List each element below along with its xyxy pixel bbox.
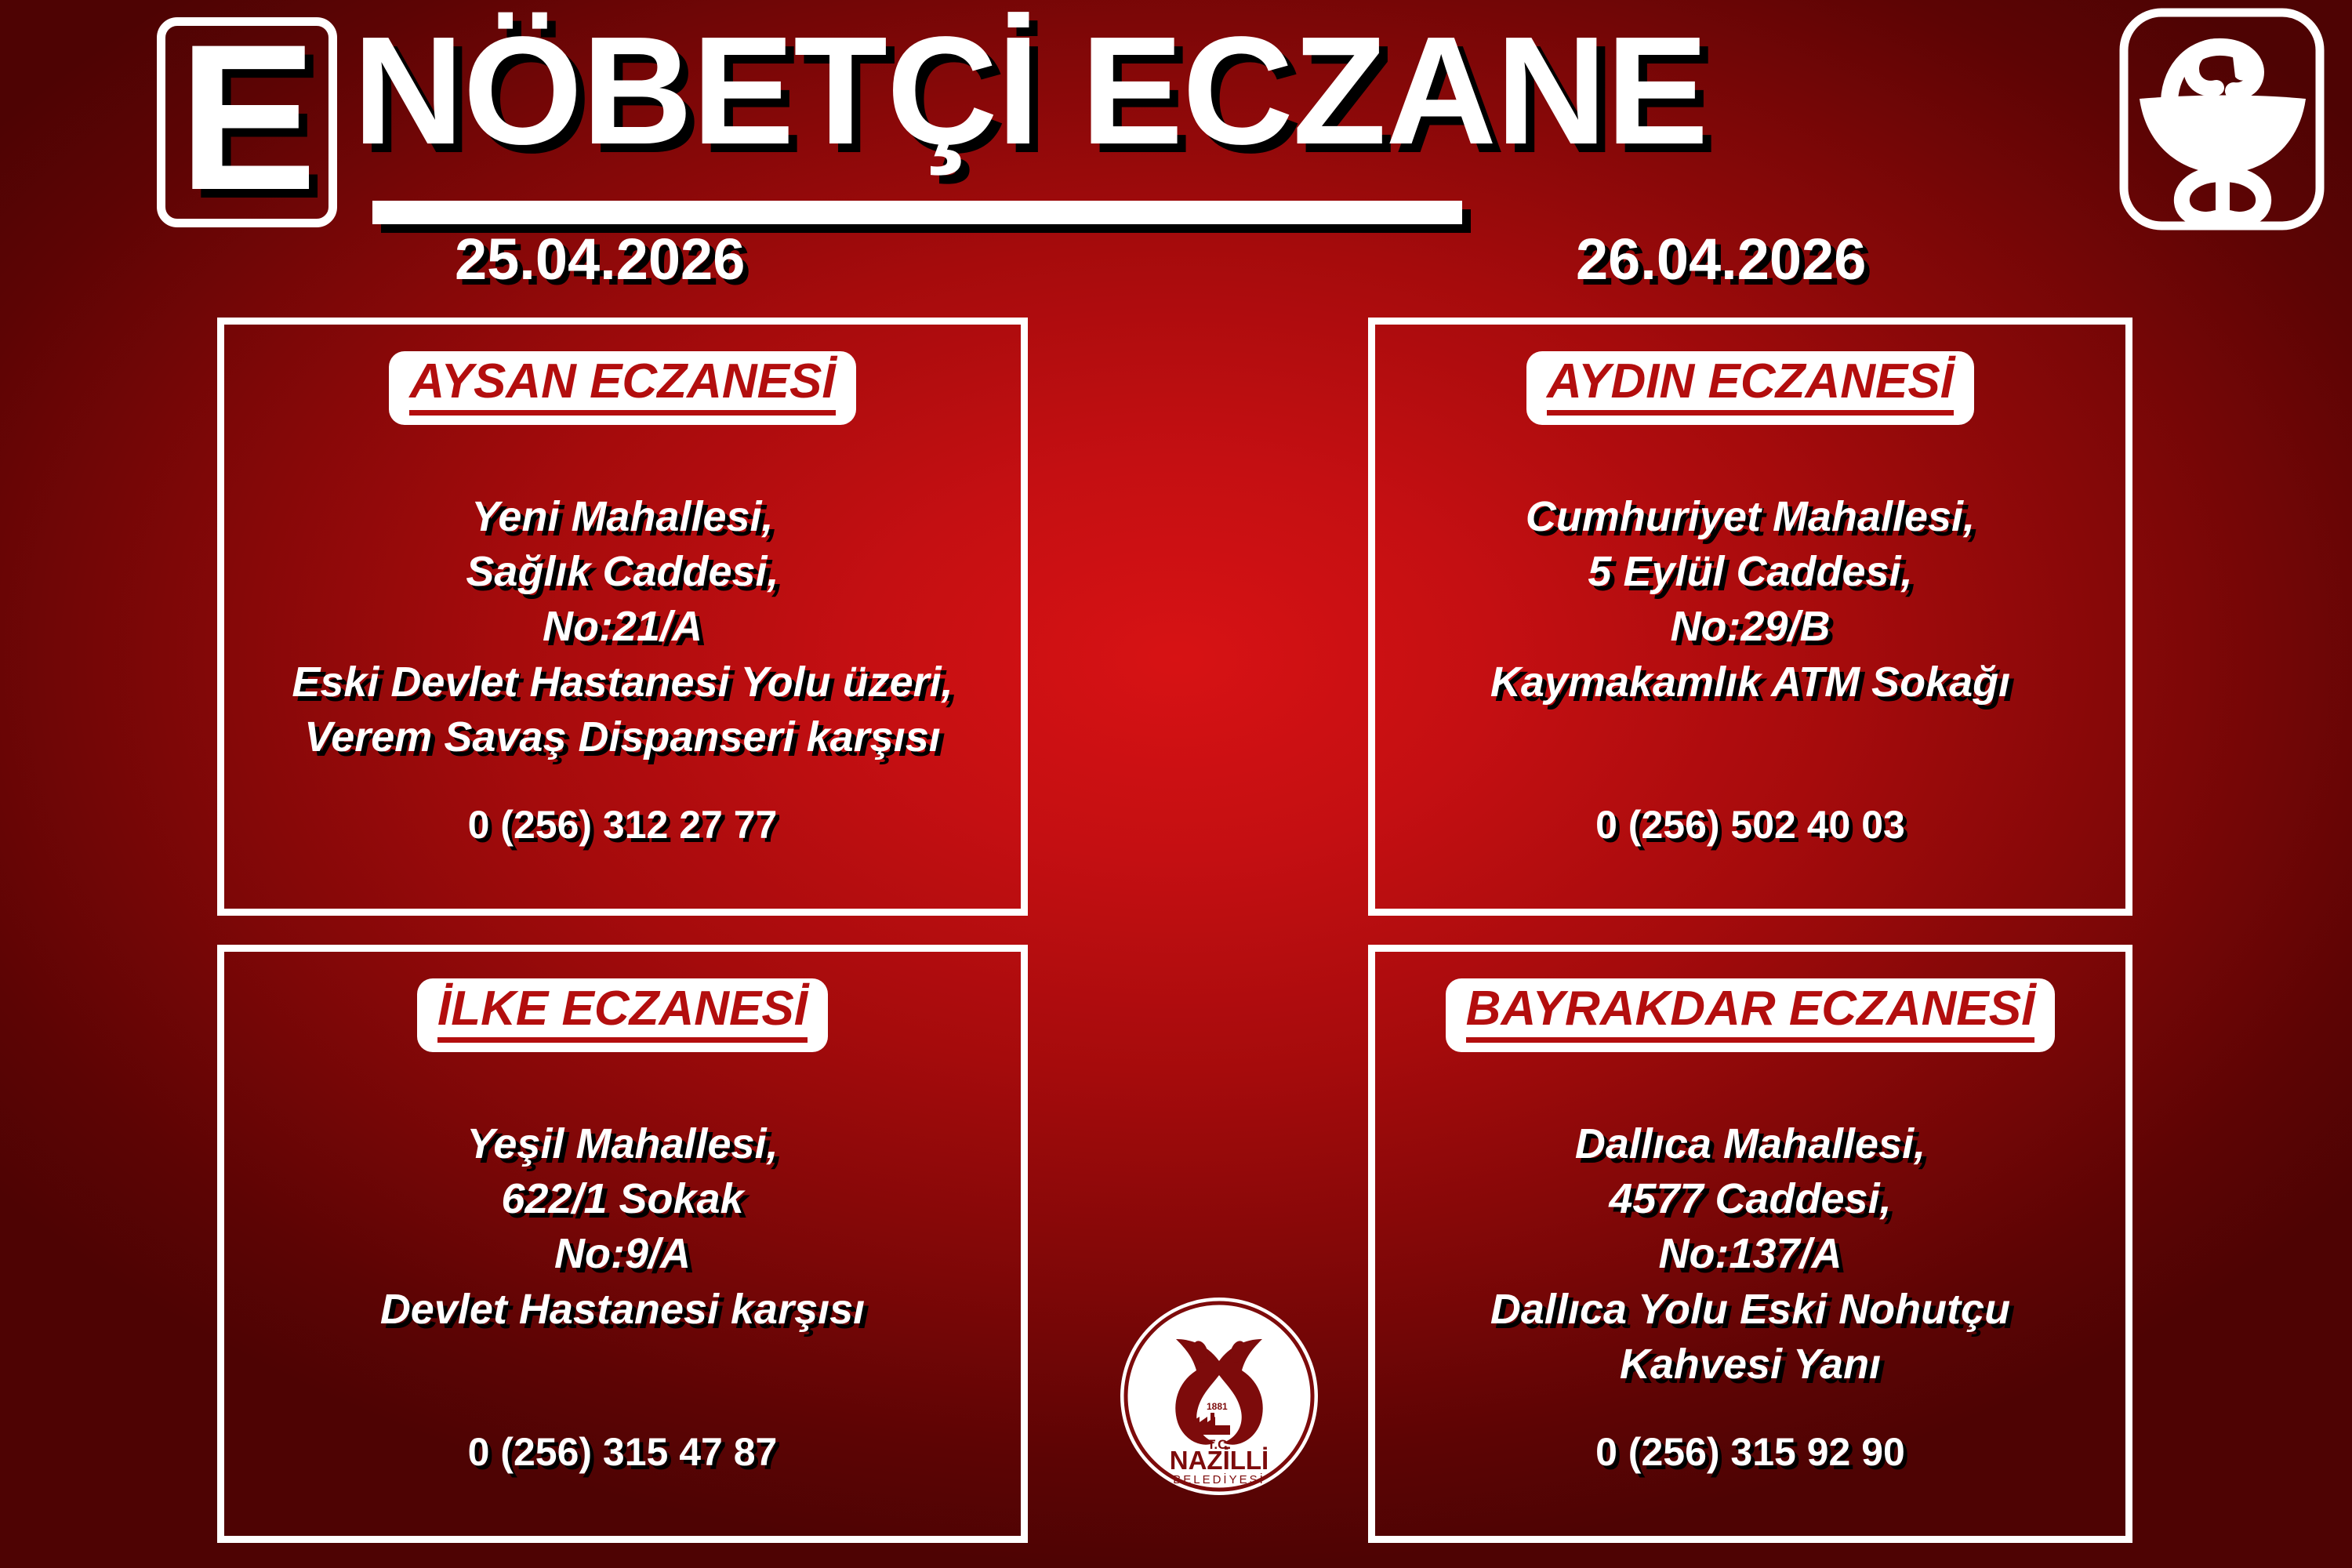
address-line: Dallıca Yolu Eski Nohutçu: [1490, 1282, 2010, 1337]
address-line: No:137/A: [1490, 1226, 2010, 1281]
address-line: 4577 Caddesi,: [1490, 1171, 2010, 1226]
pharmacy-card-aydin[interactable]: AYDIN ECZANESİ Cumhuriyet Mahallesi, 5 E…: [1368, 318, 2132, 916]
pharmacy-card-bayrakdar[interactable]: BAYRAKDAR ECZANESİ Dallıca Mahallesi, 45…: [1368, 945, 2132, 1543]
pharmacy-phone[interactable]: 0 (256) 315 47 87: [224, 1429, 1021, 1475]
address-line: No:9/A: [380, 1226, 865, 1281]
badge-letter: E: [179, 37, 316, 199]
pharmacy-card-aysan[interactable]: AYSAN ECZANESİ Yeni Mahallesi, Sağlık Ca…: [217, 318, 1028, 916]
address-line: 622/1 Sokak: [380, 1171, 865, 1226]
svg-text:NAZİLLİ: NAZİLLİ: [1170, 1446, 1269, 1475]
pharmacy-name-pill: BAYRAKDAR ECZANESİ: [1446, 978, 2056, 1052]
pharmacy-name: AYDIN ECZANESİ: [1547, 356, 1954, 416]
address-line: Dallıca Mahallesi,: [1490, 1116, 2010, 1171]
address-line: Verem Savaş Dispanseri karşısı: [292, 710, 953, 764]
pharmacy-name-pill: AYSAN ECZANESİ: [389, 351, 855, 425]
pharmacy-name-pill: AYDIN ECZANESİ: [1526, 351, 1974, 425]
pharmacy-name: AYSAN ECZANESİ: [409, 356, 835, 416]
poster-root: E NÖBETÇİ ECZANE 25.04.2: [0, 0, 2352, 1568]
address-line: No:29/B: [1490, 599, 2010, 654]
address-line: Sağlık Caddesi,: [292, 544, 953, 599]
nazilli-belediyesi-logo: 1881 T.C. NAZİLLİ BELEDİYESİ: [1118, 1295, 1320, 1497]
address-line: Yeşil Mahallesi,: [380, 1116, 865, 1171]
pharmacy-name-pill: İLKE ECZANESİ: [417, 978, 828, 1052]
address-line: Yeni Mahallesi,: [292, 489, 953, 544]
pharmacy-phone[interactable]: 0 (256) 315 92 90: [1375, 1429, 2125, 1475]
page-title: NÖBETÇİ ECZANE: [353, 13, 1708, 169]
address-line: Kahvesi Yanı: [1490, 1337, 2010, 1392]
address-line: Kaymakamlık ATM Sokağı: [1490, 655, 2010, 710]
pharmacy-phone[interactable]: 0 (256) 312 27 77: [224, 802, 1021, 848]
date-left: 25.04.2026: [455, 226, 745, 292]
pharmacy-card-ilke[interactable]: İLKE ECZANESİ Yeşil Mahallesi, 622/1 Sok…: [217, 945, 1028, 1543]
title-block: NÖBETÇİ ECZANE: [353, 13, 1708, 169]
badge-letter-box: E: [157, 17, 337, 227]
address-line: Eski Devlet Hastanesi Yolu üzeri,: [292, 655, 953, 710]
pharmacy-address: Cumhuriyet Mahallesi, 5 Eylül Caddesi, N…: [1476, 489, 2024, 710]
pharmacy-name: BAYRAKDAR ECZANESİ: [1466, 983, 2035, 1043]
title-underline-bar: [372, 201, 1462, 224]
pharmacy-address: Dallıca Mahallesi, 4577 Caddesi, No:137/…: [1476, 1116, 2024, 1392]
pharmacy-address: Yeni Mahallesi, Sağlık Caddesi, No:21/A …: [278, 489, 967, 764]
date-right: 26.04.2026: [1576, 226, 1866, 292]
address-line: Cumhuriyet Mahallesi,: [1490, 489, 2010, 544]
address-line: 5 Eylül Caddesi,: [1490, 544, 2010, 599]
svg-text:1881: 1881: [1207, 1401, 1228, 1412]
pharmacy-address: Yeşil Mahallesi, 622/1 Sokak No:9/A Devl…: [366, 1116, 879, 1337]
pharmacy-phone[interactable]: 0 (256) 502 40 03: [1375, 802, 2125, 848]
bowl-of-hygieia-icon: [2113, 6, 2332, 234]
address-line: No:21/A: [292, 599, 953, 654]
poster-header: E NÖBETÇİ ECZANE 25.04.2: [0, 0, 2352, 306]
svg-text:BELEDİYESİ: BELEDİYESİ: [1173, 1472, 1265, 1486]
pharmacy-name: İLKE ECZANESİ: [437, 983, 808, 1043]
address-line: Devlet Hastanesi karşısı: [380, 1282, 865, 1337]
